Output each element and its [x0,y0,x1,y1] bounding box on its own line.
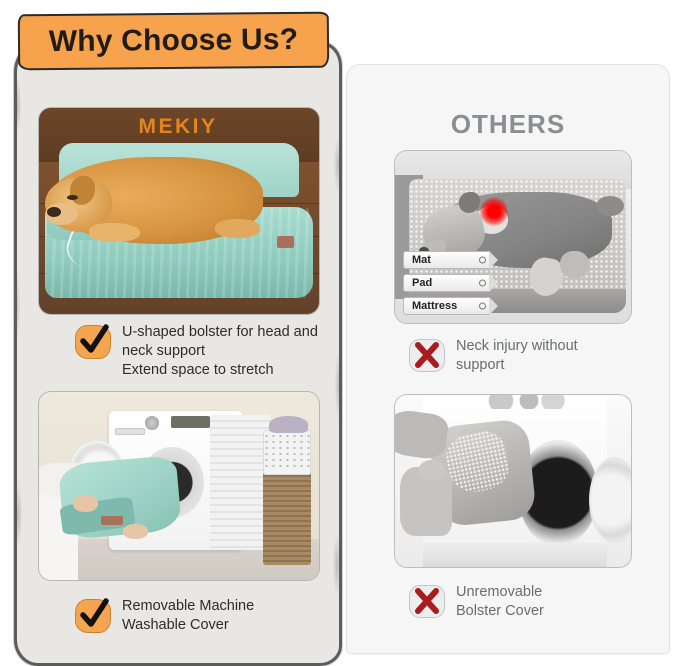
feature-2-line-1: Removable Machine [122,597,254,616]
drawback-1-text: Neck injury without support [456,337,578,375]
mekiy-panel: MEKIY [14,42,342,666]
why-choose-us-banner: Why Choose Us? [18,12,329,71]
mekiy-washable-cover-photo [39,392,319,580]
others-panel: OTHERS Mat [346,64,670,654]
feature-row-1: U-shaped bolster for head and neck suppo… [75,323,325,380]
check-icon [75,325,111,359]
x-icon [409,339,445,372]
layer-tag-mat-label: Mat [412,254,431,266]
check-icon [75,599,111,633]
feature-1-line-1: U-shaped bolster for head and [122,323,318,342]
feature-1-line-2: neck support [122,342,318,361]
comparison-infographic: MEKIY [0,0,679,666]
banner-title: Why Choose Us? [49,23,299,59]
bed-layer-labels: Mat Pad Mattress [403,251,490,315]
layer-dot-icon [479,257,486,264]
neck-pain-indicator [480,196,508,227]
drawback-1-line-1: Neck injury without [456,337,578,356]
drawback-2-line-2: Bolster Cover [456,602,544,621]
layer-tag-pad-label: Pad [412,277,432,289]
feature-1-line-3: Extend space to stretch [122,361,318,380]
feature-1-text: U-shaped bolster for head and neck suppo… [122,323,318,380]
drawback-2-text: Unremovable Bolster Cover [456,583,544,621]
layer-tag-pad: Pad [403,274,490,292]
drawback-row-2: Unremovable Bolster Cover [409,583,649,621]
drawback-1-line-2: support [456,356,578,375]
layer-tag-mat: Mat [403,251,490,269]
feature-2-text: Removable Machine Washable Cover [122,597,254,635]
others-flat-bed-photo: Mat Pad Mattress [395,151,631,323]
layer-tag-mattress-label: Mattress [412,300,457,312]
layer-tag-mattress: Mattress [403,297,490,315]
others-title: OTHERS [347,109,669,140]
feature-row-2: Removable Machine Washable Cover [75,597,325,635]
layer-dot-icon [479,280,486,287]
brand-label: MEKIY [17,115,339,139]
feature-2-line-2: Washable Cover [122,616,254,635]
drawback-row-1: Neck injury without support [409,337,649,375]
others-unremovable-cover-photo [395,395,631,567]
x-icon [409,585,445,618]
layer-dot-icon [479,303,486,310]
drawback-2-line-1: Unremovable [456,583,544,602]
